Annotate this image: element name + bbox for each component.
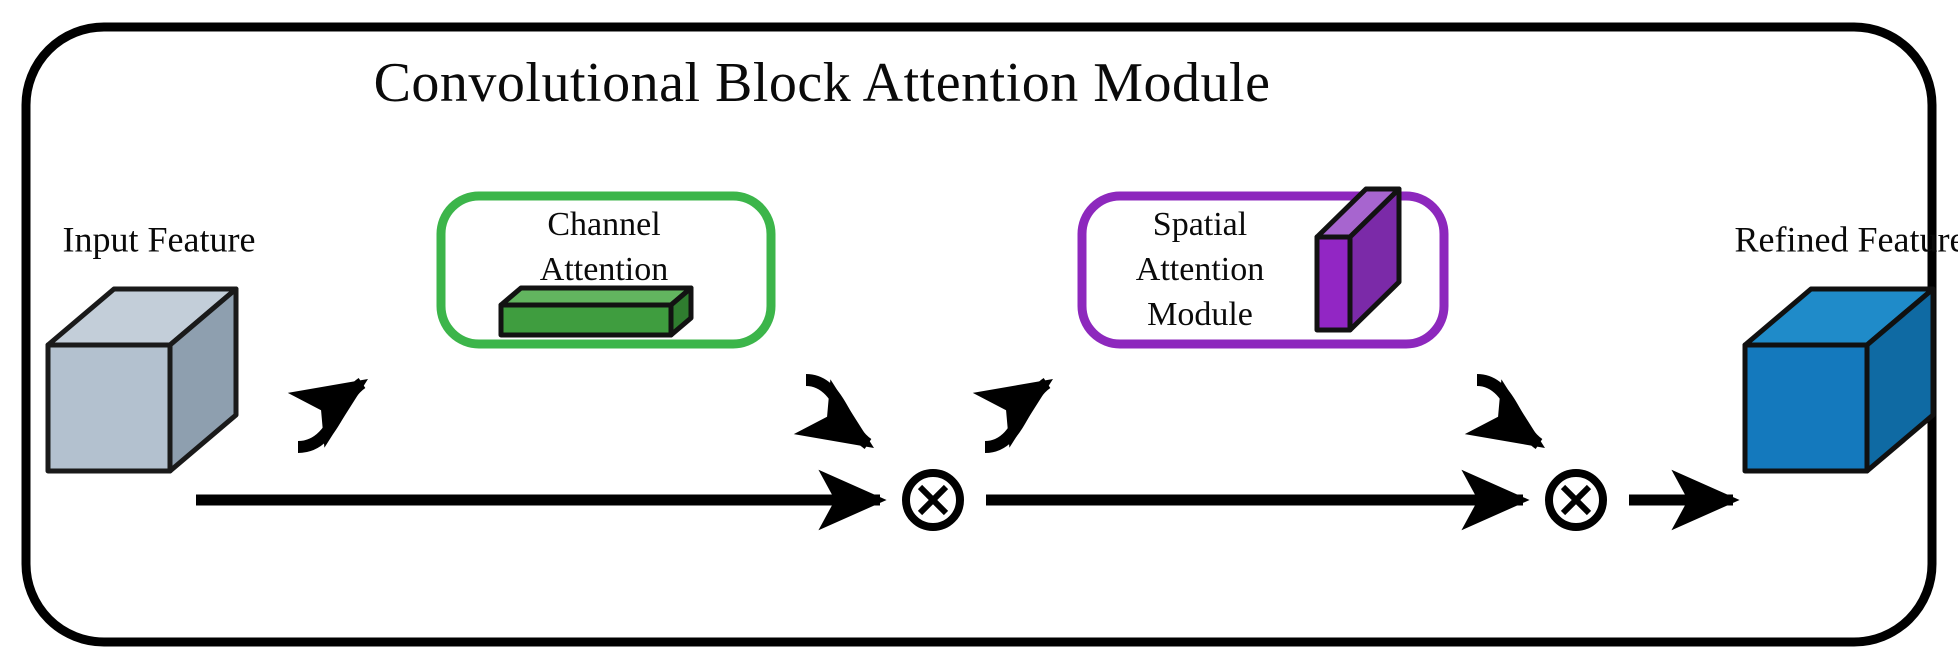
refined-feature-cube <box>1745 289 1933 471</box>
spatial-module-label-line3: Module <box>1147 296 1253 333</box>
refined-feature-label: Refined Feature <box>1735 219 1958 259</box>
refined-cube-front-face <box>1745 345 1867 471</box>
channel-bar-top-face <box>501 288 691 305</box>
multiply-operator-1 <box>906 473 960 527</box>
input-feature-cube <box>48 289 236 471</box>
cbam-diagram-svg: Convolutional Block Attention Module Inp… <box>0 0 1958 669</box>
channel-module-label-line2: Attention <box>540 251 668 288</box>
outer-container-border <box>26 27 1932 642</box>
spatial-module-label-line2: Attention <box>1136 251 1264 288</box>
spatial-slab-left-face <box>1317 237 1350 330</box>
branch-arrow-channel-to-multiply <box>806 380 868 444</box>
spatial-module-label-line1: Spatial <box>1153 206 1247 243</box>
input-cube-front-face <box>48 345 170 471</box>
branch-arrow-multiply-to-spatial <box>985 383 1047 447</box>
input-feature-label: Input Feature <box>63 219 256 259</box>
page-title: Convolutional Block Attention Module <box>374 52 1271 114</box>
channel-attention-bar <box>501 288 691 335</box>
multiply-operator-2 <box>1549 473 1603 527</box>
branch-arrow-input-to-channel <box>298 383 362 447</box>
channel-module-label-line1: Channel <box>547 206 660 243</box>
branch-arrow-spatial-to-multiply <box>1477 380 1539 444</box>
cbam-diagram-canvas: Convolutional Block Attention Module Inp… <box>0 0 1958 669</box>
channel-bar-front-face <box>501 305 671 335</box>
